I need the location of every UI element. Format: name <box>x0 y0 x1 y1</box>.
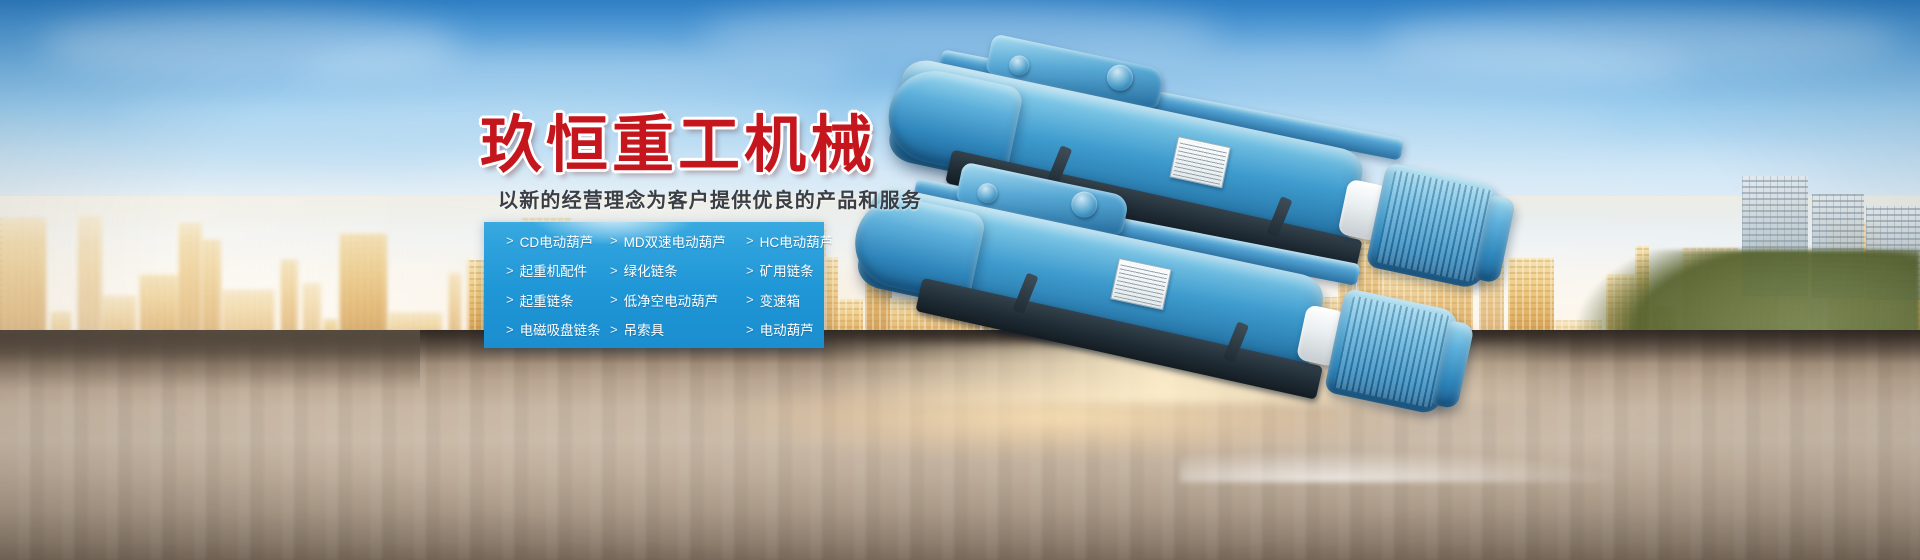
chevron-right-icon: > <box>506 263 514 278</box>
product-link-label: CD电动葫芦 <box>520 231 594 251</box>
product-link-label: 起重链条 <box>520 290 574 310</box>
product-links-grid: >CD电动葫芦>MD双速电动葫芦>HC电动葫芦>起重机配件>绿化链条>矿用链条>… <box>484 222 824 348</box>
product-link-label: 变速箱 <box>760 290 801 310</box>
product-link[interactable]: >起重链条 <box>506 290 610 310</box>
product-link[interactable]: >低净空电动葫芦 <box>610 290 746 310</box>
product-link[interactable]: >绿化链条 <box>610 260 746 280</box>
product-link[interactable]: >HC电动葫芦 <box>746 231 833 251</box>
product-link-label: 矿用链条 <box>760 260 814 280</box>
chevron-right-icon: > <box>746 263 754 278</box>
product-link[interactable]: >变速箱 <box>746 290 833 310</box>
product-link-label: 低净空电动葫芦 <box>624 290 719 310</box>
product-link[interactable]: >吊索具 <box>610 319 746 339</box>
product-link[interactable]: >电磁吸盘链条 <box>506 319 610 339</box>
product-link-label: 绿化链条 <box>624 260 678 280</box>
product-link-label: 电动葫芦 <box>760 319 814 339</box>
chevron-right-icon: > <box>610 263 618 278</box>
city-building <box>77 215 102 346</box>
product-link[interactable]: >CD电动葫芦 <box>506 231 610 251</box>
product-link-label: 吊索具 <box>624 319 665 339</box>
chevron-right-icon: > <box>506 322 514 337</box>
electric-hoist-group <box>860 60 1560 480</box>
chevron-right-icon: > <box>610 292 618 307</box>
hero-banner: 玖恒重工机械 以新的经营理念为客户提供优良的产品和服务 >CD电动葫芦>MD双速… <box>0 0 1920 560</box>
chevron-right-icon: > <box>746 292 754 307</box>
chevron-right-icon: > <box>746 322 754 337</box>
chevron-right-icon: > <box>506 292 514 307</box>
product-links-panel: >CD电动葫芦>MD双速电动葫芦>HC电动葫芦>起重机配件>绿化链条>矿用链条>… <box>484 222 824 348</box>
product-link-label: 电磁吸盘链条 <box>520 319 601 339</box>
banner-title: 玖恒重工机械 <box>480 112 876 177</box>
chevron-right-icon: > <box>506 233 514 248</box>
chevron-right-icon: > <box>610 322 618 337</box>
city-building <box>178 223 202 346</box>
product-link[interactable]: >MD双速电动葫芦 <box>610 231 746 251</box>
product-link-label: HC电动葫芦 <box>760 231 834 251</box>
banner-subtitle: 以新的经营理念为客户提供优良的产品和服务 <box>498 184 922 213</box>
chevron-right-icon: > <box>746 233 754 248</box>
product-link[interactable]: >起重机配件 <box>506 260 610 280</box>
product-link[interactable]: >矿用链条 <box>746 260 833 280</box>
chevron-right-icon: > <box>610 233 618 248</box>
city-building <box>0 218 46 346</box>
product-link-label: 起重机配件 <box>520 260 588 280</box>
product-link[interactable]: >电动葫芦 <box>746 319 833 339</box>
product-link-label: MD双速电动葫芦 <box>624 231 726 251</box>
